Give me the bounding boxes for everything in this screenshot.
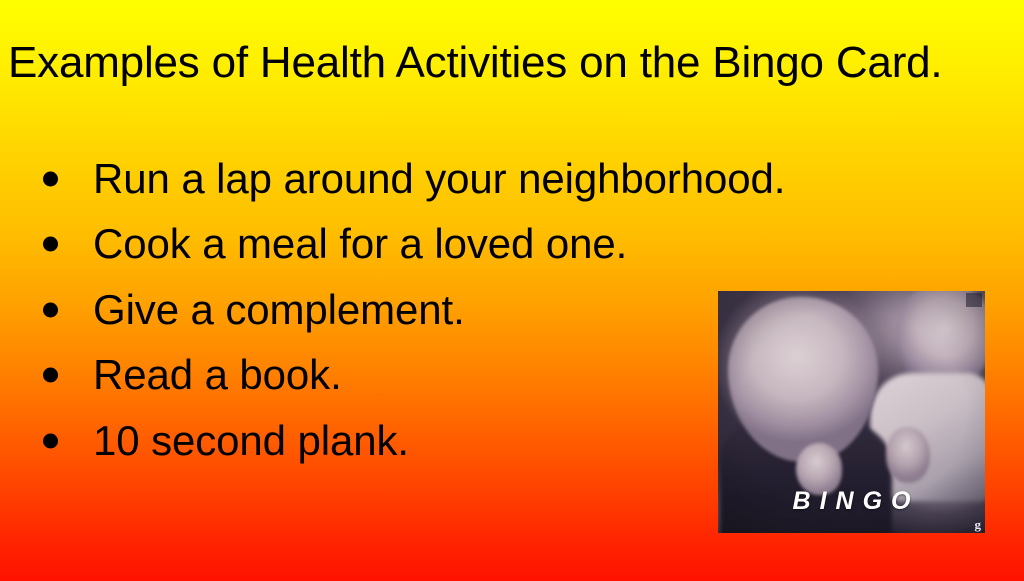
list-item-label: Read a book.	[93, 351, 342, 399]
list-item-label: 10 second plank.	[93, 417, 409, 465]
list-item-label: Cook a meal for a loved one.	[93, 220, 627, 268]
list-item: Read a book.	[36, 343, 785, 409]
photo-watermark-bottom-right: g	[975, 518, 982, 532]
bullet-list: Run a lap around your neighborhood. Cook…	[36, 146, 785, 474]
slide-canvas: Examples of Health Activities on the Bin…	[0, 0, 1024, 581]
list-item: Cook a meal for a loved one.	[36, 212, 785, 278]
bullet-dot-icon	[43, 237, 58, 252]
photo-caption: BINGO	[718, 487, 985, 516]
list-item: Give a complement.	[36, 277, 785, 343]
list-item: 10 second plank.	[36, 408, 785, 474]
list-item-label: Give a complement.	[93, 286, 465, 334]
list-item: Run a lap around your neighborhood.	[36, 146, 785, 212]
bullet-dot-icon	[43, 302, 58, 317]
bingo-photo: BINGO g	[718, 291, 985, 533]
bullet-dot-icon	[43, 171, 58, 186]
list-item-label: Run a lap around your neighborhood.	[93, 155, 785, 203]
bullet-dot-icon	[43, 433, 58, 448]
page-title: Examples of Health Activities on the Bin…	[8, 37, 1016, 89]
bullet-dot-icon	[43, 368, 58, 383]
photo-watermark-top-right	[966, 293, 982, 307]
